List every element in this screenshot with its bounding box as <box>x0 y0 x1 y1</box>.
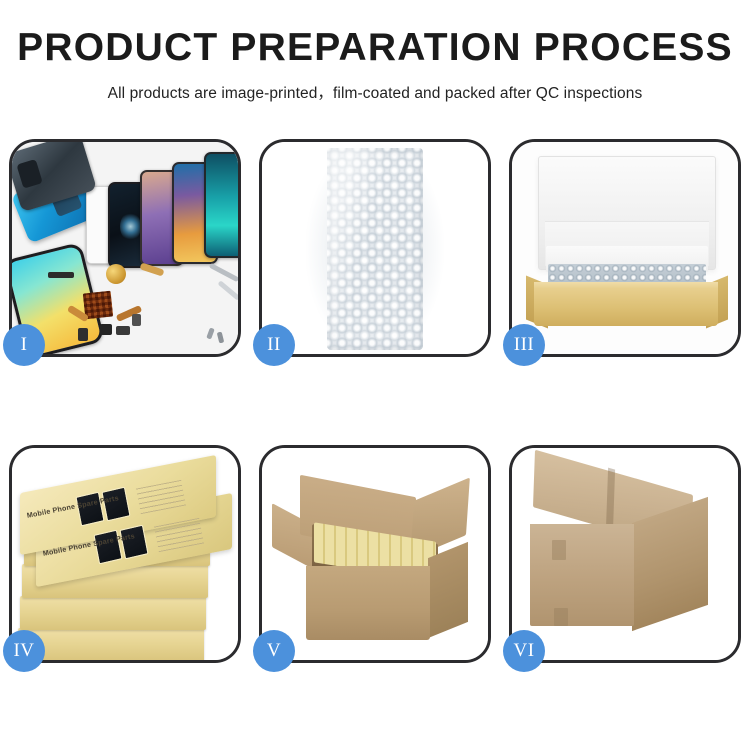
process-step-card-1: I <box>9 139 241 357</box>
step-image-sealed-carton <box>512 448 738 660</box>
connector-part-a <box>100 324 112 335</box>
carton-front-panel <box>306 566 430 640</box>
connector-part-c <box>78 328 88 341</box>
screw-part-a <box>206 327 214 339</box>
process-step-card-3: III <box>509 139 741 357</box>
tweezers-tool <box>209 263 238 282</box>
pry-tool <box>217 280 238 301</box>
screw-part-b <box>217 332 225 344</box>
step-badge-4: IV <box>3 630 45 672</box>
carton-side-panel <box>428 542 468 638</box>
step-badge-3: III <box>503 324 545 366</box>
bubble-wrap-sheet <box>327 148 423 350</box>
step-badge-6: VI <box>503 630 545 672</box>
phone-teal-display <box>204 152 238 258</box>
process-step-card-5: V <box>259 445 491 663</box>
step-badge-2: II <box>253 324 295 366</box>
connector-part-d <box>132 314 141 326</box>
step-image-open-carton <box>262 448 488 660</box>
step-image-bubble-wrap <box>262 142 488 354</box>
process-step-card-2: II <box>259 139 491 357</box>
carton-tape-mark-top <box>552 540 566 560</box>
connector-part-b <box>116 326 130 335</box>
stacked-box-2 <box>20 596 206 630</box>
step-badge-5: V <box>253 630 295 672</box>
inner-box-tray-front <box>534 288 718 326</box>
step-image-phones-and-spare-parts <box>12 142 238 354</box>
page-subtitle: All products are image-printed，film-coat… <box>0 81 750 103</box>
box-stack: Mobile Phone Spare Parts Mobile Phone Sp… <box>16 468 238 660</box>
process-step-grid: I II III <box>9 139 741 663</box>
header: PRODUCT PREPARATION PROCESS All products… <box>0 0 750 103</box>
process-step-card-6: VI <box>509 445 741 663</box>
stacked-box-1 <box>18 628 204 660</box>
process-step-card-4: Mobile Phone Spare Parts Mobile Phone Sp… <box>9 445 241 663</box>
carton-tape-mark-bottom <box>554 608 568 626</box>
step-image-stacked-boxes: Mobile Phone Spare Parts Mobile Phone Sp… <box>12 448 238 660</box>
step-badge-1: I <box>3 324 45 366</box>
coil-part <box>106 264 126 284</box>
sealed-carton-front <box>530 524 634 626</box>
step-image-open-inner-box <box>512 142 738 354</box>
battery-part <box>48 272 74 278</box>
page-title: PRODUCT PREPARATION PROCESS <box>0 28 750 69</box>
